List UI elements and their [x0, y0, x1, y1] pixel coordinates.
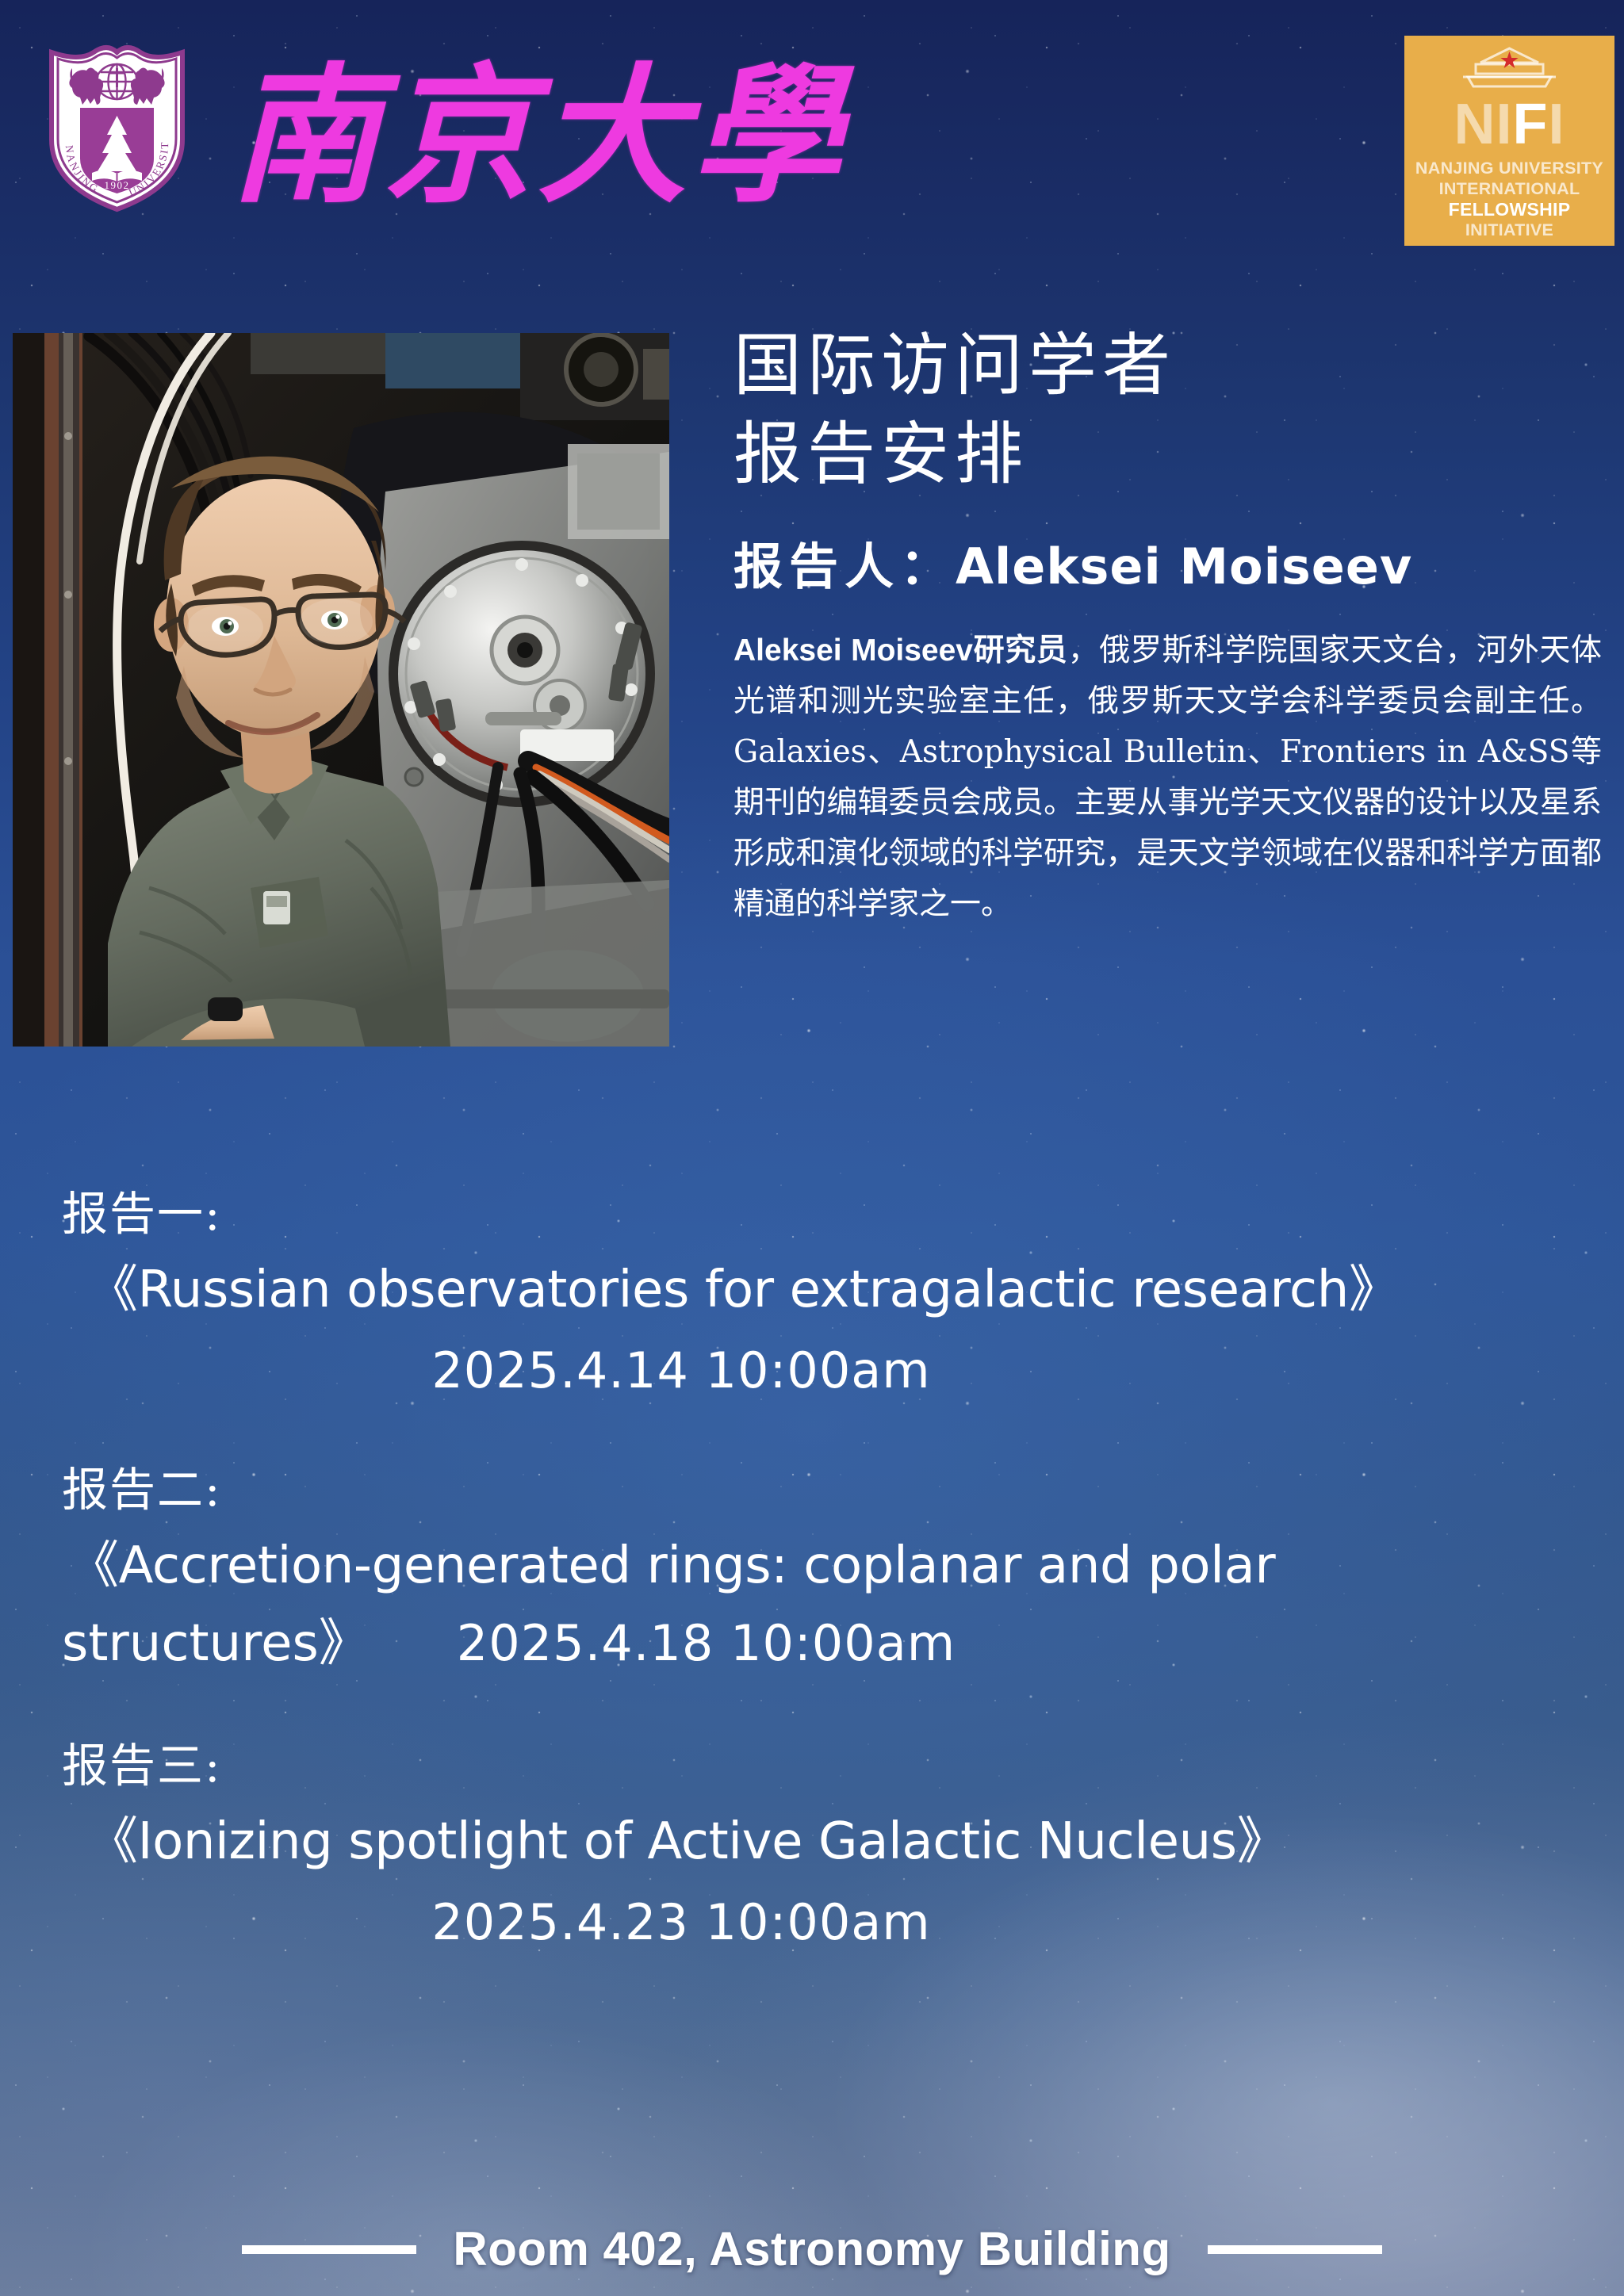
- speaker-bio-lead: Aleksei Moiseev研究员: [733, 633, 1068, 668]
- talk-schedule-list: 报告一: 《Russian observatories for extragal…: [0, 1185, 1624, 2013]
- talk-3-datetime: 2025.4.23 10:00am: [0, 1891, 1624, 1954]
- red-star-icon: [1500, 52, 1518, 68]
- nifi-program-badge: NIFI NANJING UNIVERSITY INTERNATIONAL FE…: [1404, 36, 1614, 246]
- poster-header: 1902 NANJING UNIVERSITY 南京大學: [0, 0, 1624, 270]
- nifi-acronym: NIFI: [1454, 94, 1565, 155]
- talk-2-title-line-2: structures》: [62, 1609, 370, 1678]
- footer-rule-right: [1208, 2245, 1382, 2254]
- talk-2-label: 报告二:: [62, 1461, 1624, 1518]
- speaker-photo-illustration: [13, 333, 669, 1047]
- footer-rule-left: [242, 2245, 416, 2254]
- shield-founded-year: 1902: [105, 179, 130, 191]
- talk-1-title: 《Russian observatories for extragalactic…: [87, 1255, 1624, 1325]
- talk-2-datetime: 2025.4.18 10:00am: [457, 1609, 956, 1678]
- nanjing-university-shield-logo: 1902 NANJING UNIVERSITY: [44, 38, 190, 214]
- talk-2-second-row: structures》 2025.4.18 10:00am: [62, 1609, 1624, 1678]
- speaker-heading: 报告人：Aleksei Moiseev: [733, 535, 1598, 599]
- talk-2-title-line-1: 《Accretion-generated rings: coplanar and…: [68, 1531, 1624, 1601]
- talk-item-2: 报告二: 《Accretion-generated rings: coplana…: [0, 1461, 1624, 1678]
- nifi-line-2: INTERNATIONAL: [1404, 178, 1614, 199]
- poster-footer: Room 402, Astronomy Building: [0, 2220, 1624, 2279]
- talk-1-label: 报告一:: [62, 1185, 1624, 1242]
- talk-item-1: 报告一: 《Russian observatories for extragal…: [0, 1185, 1624, 1402]
- tiananmen-gate-icon: [1444, 45, 1575, 93]
- talk-3-title: 《Ionizing spotlight of Active Galactic N…: [87, 1807, 1624, 1877]
- poster-main-column: 国际访问学者 报告安排 报告人：Aleksei Moiseev Aleksei …: [733, 321, 1598, 930]
- nifi-line-1: NANJING UNIVERSITY: [1404, 158, 1614, 178]
- university-name-calligraphy: 南京大學: [230, 46, 801, 228]
- speaker-name: Aleksei Moiseev: [956, 538, 1412, 595]
- talk-item-3: 报告三: 《Ionizing spotlight of Active Galac…: [0, 1737, 1624, 1954]
- speaker-photo: [13, 333, 669, 1047]
- nifi-fulltext: NANJING UNIVERSITY INTERNATIONAL FELLOWS…: [1404, 158, 1614, 240]
- page-title: 国际访问学者 报告安排: [733, 321, 1598, 499]
- nifi-line-3: FELLOWSHIP: [1404, 199, 1614, 220]
- venue-text: Room 402, Astronomy Building: [453, 2220, 1170, 2279]
- speaker-bio: Aleksei Moiseev研究员，俄罗斯科学院国家天文台，河外天体光谱和测光…: [733, 626, 1602, 930]
- talk-3-label: 报告三:: [62, 1737, 1624, 1794]
- nifi-line-4: INITIATIVE: [1404, 220, 1614, 240]
- speaker-bio-body: ，俄罗斯科学院国家天文台，河外天体光谱和测光实验室主任，俄罗斯天文学会科学委员会…: [733, 633, 1602, 922]
- poster-root: 1902 NANJING UNIVERSITY 南京大學: [0, 0, 1624, 2296]
- talk-1-datetime: 2025.4.14 10:00am: [0, 1339, 1624, 1402]
- speaker-label: 报告人：: [733, 538, 956, 595]
